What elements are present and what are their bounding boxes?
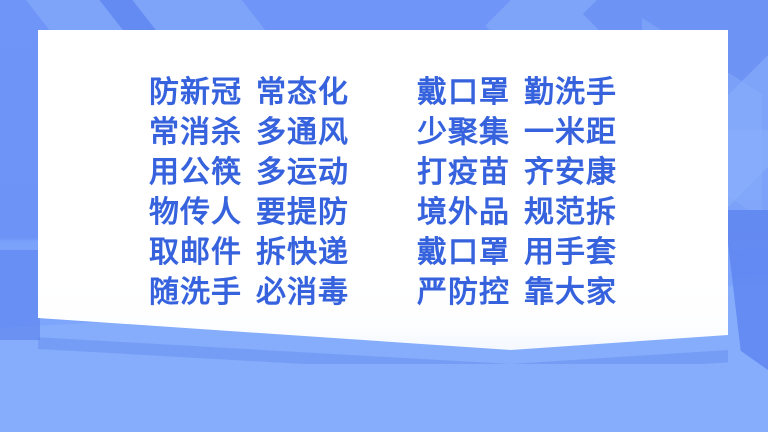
slogan-phrase: 境外品 (417, 194, 510, 232)
slogan-line: 物传人 要提防 (149, 194, 349, 232)
slogan-column-right: 戴口罩 勤洗手 少聚集 一米距 打疫苗 齐安康 境外品 规范拆 戴口罩 用手套 … (417, 74, 617, 312)
slogan-phrase: 靠大家 (524, 274, 617, 312)
slogan-phrase: 一米距 (524, 114, 617, 152)
slogan-container: 防新冠 常态化 常消杀 多通风 用公筷 多运动 物传人 要提防 取邮件 拆快递 … (38, 30, 728, 350)
slogan-phrase: 必消毒 (256, 274, 349, 312)
slogan-phrase: 打疫苗 (417, 154, 510, 192)
poster-canvas: 防新冠 常态化 常消杀 多通风 用公筷 多运动 物传人 要提防 取邮件 拆快递 … (0, 0, 768, 432)
slogan-phrase: 规范拆 (524, 194, 617, 232)
slogan-phrase: 戴口罩 (417, 74, 510, 112)
slogan-phrase: 勤洗手 (524, 74, 617, 112)
slogan-line: 少聚集 一米距 (417, 114, 617, 152)
slogan-phrase: 取邮件 (149, 234, 242, 272)
slogan-line: 境外品 规范拆 (417, 194, 617, 232)
slogan-phrase: 要提防 (256, 194, 349, 232)
slogan-phrase: 齐安康 (524, 154, 617, 192)
slogan-phrase: 少聚集 (417, 114, 510, 152)
slogan-line: 打疫苗 齐安康 (417, 154, 617, 192)
slogan-phrase: 用公筷 (149, 154, 242, 192)
slogan-line: 取邮件 拆快递 (149, 234, 349, 272)
slogan-phrase: 常消杀 (149, 114, 242, 152)
slogan-phrase: 常态化 (256, 74, 349, 112)
slogan-phrase: 严防控 (417, 274, 510, 312)
decoration-left-slab (0, 250, 40, 340)
slogan-line: 戴口罩 用手套 (417, 234, 617, 272)
slogan-phrase: 拆快递 (256, 234, 349, 272)
slogan-line: 随洗手 必消毒 (149, 274, 349, 312)
slogan-phrase: 物传人 (149, 194, 242, 232)
slogan-line: 戴口罩 勤洗手 (417, 74, 617, 112)
slogan-line: 用公筷 多运动 (149, 154, 349, 192)
slogan-phrase: 多通风 (256, 114, 349, 152)
slogan-line: 严防控 靠大家 (417, 274, 617, 312)
slogan-column-left: 防新冠 常态化 常消杀 多通风 用公筷 多运动 物传人 要提防 取邮件 拆快递 … (149, 74, 349, 312)
slogan-phrase: 防新冠 (149, 74, 242, 112)
slogan-phrase: 随洗手 (149, 274, 242, 312)
slogan-phrase: 用手套 (524, 234, 617, 272)
slogan-line: 防新冠 常态化 (149, 74, 349, 112)
slogan-phrase: 多运动 (256, 154, 349, 192)
slogan-line: 常消杀 多通风 (149, 114, 349, 152)
slogan-phrase: 戴口罩 (417, 234, 510, 272)
